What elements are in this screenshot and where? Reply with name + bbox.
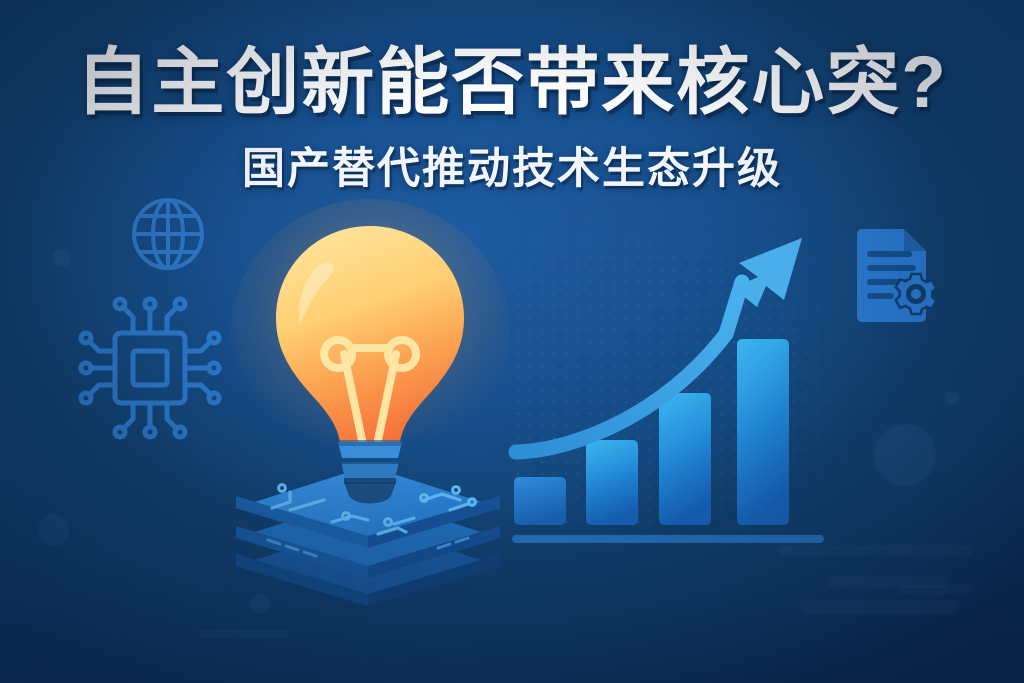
lightbulb xyxy=(262,214,478,504)
decor-soft-bar xyxy=(800,600,960,614)
growth-bar-chart xyxy=(490,230,830,550)
document-gear-icon xyxy=(853,228,949,328)
decor-soft-bar xyxy=(200,630,290,638)
poster-canvas: 自主创新能否带来核心突? 国产替代推动技术生态升级 xyxy=(0,0,1024,683)
page-title: 自主创新能否带来核心突? xyxy=(0,46,1024,119)
chart-bar xyxy=(586,440,638,525)
sub-title-text: 国产替代推动技术生态升级 xyxy=(0,148,1024,191)
bokeh-circle xyxy=(38,514,70,546)
cpu-chip-icon xyxy=(75,293,225,443)
main-title-text: 自主创新能否带来核心突? xyxy=(0,46,1024,119)
chart-bar xyxy=(659,393,711,525)
chart-bar xyxy=(514,477,566,525)
chart-bar xyxy=(737,339,789,525)
bokeh-circle xyxy=(53,249,71,267)
globe-icon xyxy=(130,196,206,272)
bokeh-circle xyxy=(945,391,959,405)
bokeh-circle xyxy=(874,424,936,486)
decor-soft-bar xyxy=(898,585,970,595)
